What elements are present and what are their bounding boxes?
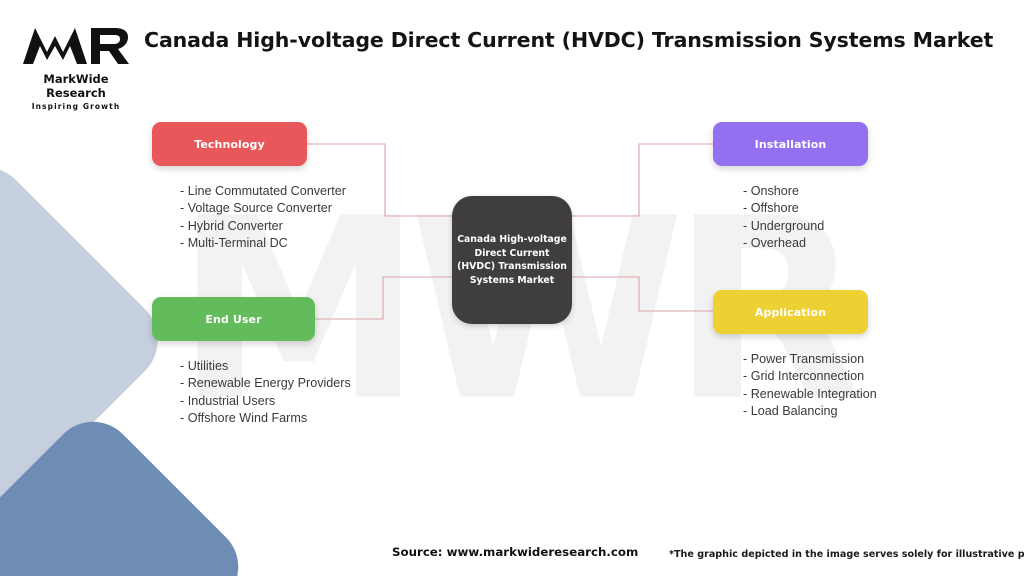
hub-line: Systems Market <box>457 274 567 288</box>
list-item: - Utilities <box>180 358 315 375</box>
list-item: - Hybrid Converter <box>180 218 307 235</box>
list-item: - Power Transmission <box>743 351 868 368</box>
list-item: - Onshore <box>743 183 868 200</box>
category-chip-application[interactable]: Application <box>713 290 868 334</box>
group-technology: Technology - Line Commutated Converter -… <box>152 122 307 253</box>
group-installation: Installation - Onshore - Offshore - Unde… <box>713 122 868 253</box>
source-label: Source: www.markwideresearch.com <box>392 545 638 559</box>
category-chip-enduser[interactable]: End User <box>152 297 315 341</box>
list-item: - Voltage Source Converter <box>180 200 307 217</box>
hub-label: Canada High-voltage Direct Current (HVDC… <box>453 233 571 287</box>
hub-line: (HVDC) Transmission <box>457 260 567 274</box>
list-item: - Line Commutated Converter <box>180 183 307 200</box>
list-item: - Industrial Users <box>180 393 315 410</box>
list-item: - Offshore <box>743 200 868 217</box>
list-item: - Load Balancing <box>743 403 868 420</box>
list-item: - Overhead <box>743 235 868 252</box>
group-enduser: End User - Utilities - Renewable Energy … <box>152 297 315 428</box>
hub-line: Direct Current <box>457 247 567 261</box>
connector-enduser <box>315 277 452 319</box>
list-item: - Renewable Integration <box>743 386 868 403</box>
infographic-canvas: MWR MarkWide Research Inspiring Growth C… <box>0 0 1024 576</box>
connector-application <box>572 277 713 311</box>
list-item: - Grid Interconnection <box>743 368 868 385</box>
hub-line: Canada High-voltage <box>457 233 567 247</box>
list-item: - Renewable Energy Providers <box>180 375 315 392</box>
list-item: - Underground <box>743 218 868 235</box>
connector-installation <box>572 144 713 216</box>
category-label: End User <box>205 313 261 326</box>
list-item: - Multi-Terminal DC <box>180 235 307 252</box>
category-label: Application <box>755 306 826 319</box>
category-items-application: - Power Transmission - Grid Interconnect… <box>713 351 868 421</box>
category-items-installation: - Onshore - Offshore - Underground - Ove… <box>713 183 868 253</box>
disclaimer-label: *The graphic depicted in the image serve… <box>669 549 1024 560</box>
category-chip-technology[interactable]: Technology <box>152 122 307 166</box>
category-label: Technology <box>194 138 265 151</box>
list-item: - Offshore Wind Farms <box>180 410 315 427</box>
category-items-enduser: - Utilities - Renewable Energy Providers… <box>152 358 315 428</box>
group-application: Application - Power Transmission - Grid … <box>713 290 868 421</box>
category-label: Installation <box>755 138 827 151</box>
hub-node[interactable]: Canada High-voltage Direct Current (HVDC… <box>452 196 572 324</box>
category-chip-installation[interactable]: Installation <box>713 122 868 166</box>
category-items-technology: - Line Commutated Converter - Voltage So… <box>152 183 307 253</box>
